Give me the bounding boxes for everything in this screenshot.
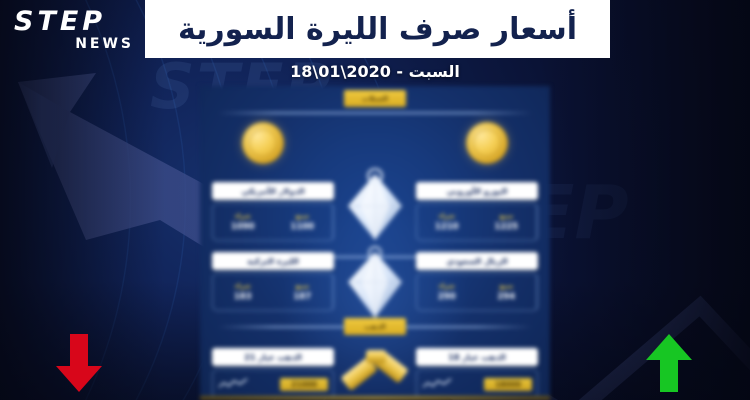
rate-cell-value: 290 [438,292,456,302]
gold-panel-left[interactable]: الذهب عيار 21 21000 [212,348,334,399]
rate-cell: مبيع 1100 [273,204,334,240]
rate-cell: شراء 1090 [213,204,273,240]
rate-title-text: الريال السعودي [446,257,507,266]
gold-price-text: 21000 [291,380,317,389]
rate-title-text: الليرة التركية [247,257,299,266]
gold-title-text: الذهب عيار 18 [448,353,505,362]
rate-cell-key: مبيع [499,282,513,290]
date-label: السبت - 2020\01\18 [0,62,750,81]
gold-bars-icon [338,344,412,396]
rate-cell: شراء 183 [213,274,273,310]
rate-values: شراء 290 مبيع 294 [416,273,538,311]
rate-values: شراء 1210 مبيع 1225 [416,203,538,241]
rate-cell-key: مبيع [295,282,309,290]
rate-cell-key: شراء [235,212,251,220]
rate-cell-key: مبيع [295,212,309,220]
diamond-gem-icon-middle [342,244,408,320]
rate-values: شراء 1090 مبيع 1100 [212,203,334,241]
step-news-logo: STEP NEWS [14,8,136,58]
rate-cell: شراء 290 [417,274,477,310]
rate-cell-value: 1210 [435,222,459,232]
gold-values: 21000 [212,369,334,399]
diamond-gem-icon-top [342,168,408,244]
sparkline-icon [218,378,248,390]
rate-title-chip: الدولار الأمريكي [212,182,334,200]
gold-title-chip: الذهب عيار 21 [212,348,334,366]
rate-title-text: الدولار الأمريكي [241,187,304,196]
rate-cell: شراء 1210 [417,204,477,240]
rate-title-text: اليورو الأوروبي [447,187,508,196]
section-tab-currencies[interactable]: العملات [344,90,406,107]
rate-title-chip: الريال السعودي [416,252,538,270]
rate-panel-left-row2[interactable]: الليرة التركية شراء 183 مبيع 187 [212,252,334,311]
rate-cell-value: 1225 [494,222,518,232]
gold-title-chip: الذهب عيار 18 [416,348,538,366]
gold-values: 18000 [416,369,538,399]
rate-cell-value: 183 [234,292,252,302]
rate-cell: مبيع 187 [273,274,334,310]
decrease-arrow-icon [50,332,108,394]
rate-title-chip: اليورو الأوروبي [416,182,538,200]
divider-top [218,112,532,114]
gold-price-text: 18000 [495,380,521,389]
rate-panel-right-row2[interactable]: الريال السعودي شراء 290 مبيع 294 [416,252,538,311]
section-tab-currencies-label: العملات [362,95,388,103]
exchange-rates-card: العملات الذهب [200,86,550,400]
gold-title-text: الذهب عيار 21 [244,353,301,362]
rate-cell: مبيع 1225 [477,204,538,240]
gold-panel-right[interactable]: الذهب عيار 18 18000 [416,348,538,399]
rate-cell-value: 1100 [290,222,314,232]
rate-cell-value: 294 [497,292,515,302]
rate-cell-key: مبيع [499,212,513,220]
page-title: أسعار صرف الليرة السورية [178,12,577,47]
section-tab-gold-label: الذهب [364,323,385,331]
gold-price-pill: 21000 [280,378,328,391]
rate-cell-value: 1090 [231,222,255,232]
rate-cell-key: شراء [235,282,251,290]
section-tab-gold[interactable]: الذهب [344,318,406,335]
rate-cell-key: شراء [439,282,455,290]
gold-coin-icon-right [466,122,508,164]
gold-price-pill: 18000 [484,378,532,391]
infographic-canvas: STEP STEP STEP NEWS أسعار صرف الليرة الس… [0,0,750,400]
logo-step-text: STEP [14,8,136,35]
gold-coin-icon-left [242,122,284,164]
logo-news-text: NEWS [14,36,136,52]
rate-title-chip: الليرة التركية [212,252,334,270]
rate-cell: مبيع 294 [477,274,538,310]
increase-arrow-icon [640,332,698,394]
sparkline-icon [422,378,452,390]
rate-panel-right-row1[interactable]: اليورو الأوروبي شراء 1210 مبيع 1225 [416,182,538,241]
rate-values: شراء 183 مبيع 187 [212,273,334,311]
title-banner: أسعار صرف الليرة السورية [145,0,610,58]
rate-cell-key: شراء [439,212,455,220]
card-footer-accent [200,396,550,400]
rate-cell-value: 187 [293,292,311,302]
rate-panel-left-row1[interactable]: الدولار الأمريكي شراء 1090 مبيع 1100 [212,182,334,241]
